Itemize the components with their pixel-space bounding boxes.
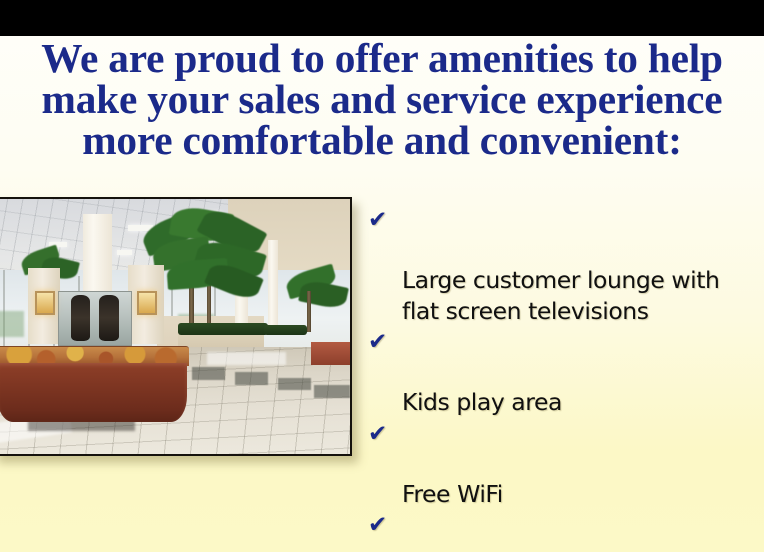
headline-line-3: more comfortable and convenient: [2, 120, 762, 161]
list-item: ✔ Kids play area [366, 326, 764, 418]
photo-column [268, 240, 279, 327]
photo-floor-accent-tile [192, 367, 224, 380]
photo-hedge [178, 323, 268, 336]
photo-sculpture [99, 295, 119, 341]
photo-floor-accent-tile [314, 385, 350, 398]
photo-wall-sconce [35, 291, 55, 315]
photo-display-niche [58, 291, 132, 347]
check-icon: ✔ [368, 205, 387, 236]
headline-line-1: We are proud to offer amenities to help [2, 38, 762, 79]
photo-floor-accent-tile [278, 378, 310, 391]
list-item: ✔ Large customer lounge with flat screen… [366, 204, 764, 326]
photo-hedge [264, 325, 307, 335]
photo-wall-sconce [137, 291, 157, 315]
lobby-photo-scene [0, 199, 350, 454]
photo-distant-counter [311, 342, 350, 365]
list-item-label: Kids play area [402, 388, 562, 416]
check-icon: ✔ [368, 327, 387, 358]
list-item-label: Free WiFi [402, 480, 503, 508]
check-icon: ✔ [368, 510, 387, 541]
list-item: ✔ Workstation areas [366, 509, 764, 552]
photo-floor-highlight [207, 352, 286, 365]
slide-canvas: We are proud to offer amenities to help … [0, 0, 764, 552]
photo-exterior-foliage [0, 311, 24, 337]
photo-reception-desk-base [0, 363, 187, 422]
list-item-label: Large customer lounge with flat screen t… [402, 266, 719, 325]
check-icon: ✔ [368, 419, 387, 450]
photo-sculpture [71, 295, 91, 341]
headline-line-2: make your sales and service experience [2, 79, 762, 120]
page-title: We are proud to offer amenities to help … [2, 38, 762, 161]
photo-floor-accent-tile [235, 372, 267, 385]
list-item: ✔ Free WiFi [366, 418, 764, 510]
photo-ceiling-light [117, 250, 131, 255]
top-black-bar [0, 0, 764, 36]
photo-palm-trunk [307, 291, 311, 332]
lobby-photo [0, 197, 352, 456]
amenities-list: ✔ Large customer lounge with flat screen… [366, 204, 764, 552]
